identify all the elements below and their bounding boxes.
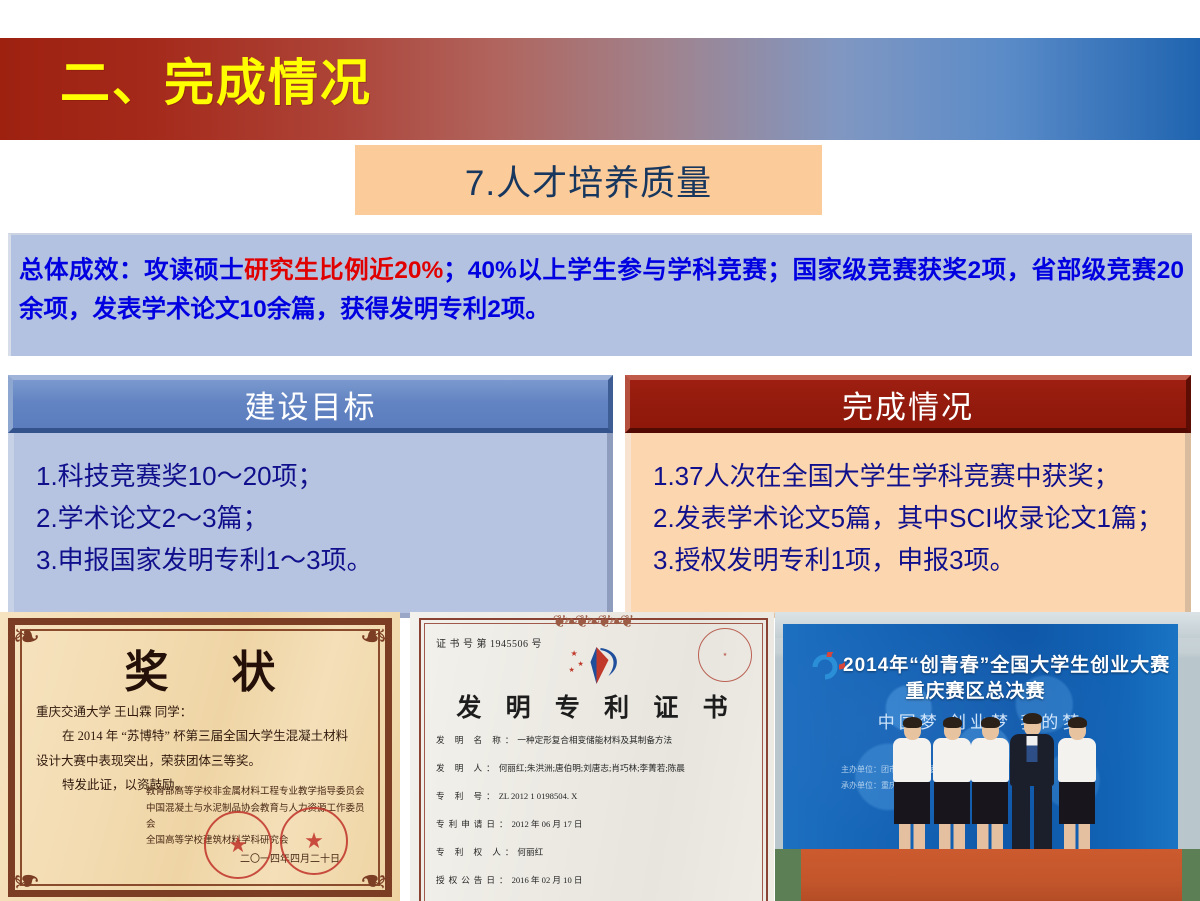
certificate-body: 重庆交通大学 王山霖 同学： 在 2014 年 “苏博特” 杯第三届全国大学生混… <box>36 700 370 798</box>
patent-certificate-photo: ❦❧❦❧❦❧❦ 证 书 号 第 1945506 号 ★ ★ ★ ★ 发 明 专 … <box>410 612 774 901</box>
slide: 二、完成情况 7.人才培养质量 总体成效：攻读硕士研究生比例近20%；40%以上… <box>0 0 1200 901</box>
list-item: 3.授权发明专利1项，申报3项。 <box>653 539 1185 581</box>
patent-field-label: 专 利 权 人： <box>436 847 517 857</box>
red-seal-icon <box>280 807 348 875</box>
person-head <box>1024 716 1041 736</box>
photo-strip: ❧ ❧ ❧ ❧ 奖 状 重庆交通大学 王山霖 同学： 在 2014 年 “苏博特… <box>0 612 1200 901</box>
summary-segment-1: 攻读硕士 <box>144 257 244 284</box>
patent-field-label: 专利申请日： <box>436 819 512 829</box>
svg-text:★: ★ <box>578 660 584 668</box>
person-head <box>982 720 999 740</box>
person-figure-suit <box>1010 716 1054 867</box>
patent-field-label: 专 利 号： <box>436 791 499 801</box>
person-skirt <box>972 782 1008 824</box>
result-panel: 完成情况 1.37人次在全国大学生学科竞赛中获奖； 2.发表学术论文5篇，其中S… <box>625 375 1191 618</box>
team-photo: 2014年“创青春”全国大学生创业大赛 重庆赛区总决赛 中国梦 创业梦 我的梦 … <box>775 612 1200 901</box>
subtitle-text: 7.人才培养质量 <box>465 155 712 206</box>
result-panel-header: 完成情况 <box>625 375 1191 433</box>
result-panel-body: 1.37人次在全国大学生学科竞赛中获奖； 2.发表学术论文5篇，其中SCI收录论… <box>625 433 1191 618</box>
result-panel-header-label: 完成情况 <box>842 382 974 427</box>
svg-text:★: ★ <box>569 666 575 674</box>
svg-text:★: ★ <box>571 649 578 658</box>
ground-track <box>775 849 1200 901</box>
person-figure <box>893 720 931 867</box>
patent-field-row: 发 明 名 称：一种定形复合相变储能材料及其制备方法 <box>436 734 756 746</box>
patent-red-seal-icon: ★ <box>698 628 752 682</box>
summary-highlight: 研究生比例近20% <box>244 257 443 284</box>
goal-panel: 建设目标 1.科技竞赛奖10～20项； 2.学术论文2～3篇； 3.申报国家发明… <box>8 375 613 618</box>
person-skirt <box>894 782 930 824</box>
patent-title: 发 明 专 利 证 书 <box>410 688 774 724</box>
page-title: 二、完成情况 <box>60 58 372 108</box>
ornament-corner-icon: ❧ <box>346 861 388 897</box>
patent-field-row: 发 明 人：何丽红;朱洪洲;唐伯明;刘唐志;肖巧林;李菁若;陈晨 <box>436 762 756 774</box>
patent-paper: ❦❧❦❧❦❧❦ 证 书 号 第 1945506 号 ★ ★ ★ ★ 发 明 专 … <box>410 612 774 901</box>
goal-panel-header-label: 建设目标 <box>245 382 377 427</box>
patent-field-value: 何丽红;朱洪洲;唐伯明;刘唐志;肖巧林;李菁若;陈晨 <box>499 763 685 773</box>
list-item: 2.发表学术论文5篇，其中SCI收录论文1篇； <box>653 497 1185 539</box>
patent-field-value: 一种定形复合相变储能材料及其制备方法 <box>517 735 672 745</box>
summary-text: 总体成效：攻读硕士研究生比例近20%；40%以上学生参与学科竞赛；国家级竞赛获奖… <box>19 252 1184 329</box>
summary-label: 总体成效： <box>19 257 144 284</box>
person-skirt <box>1059 782 1095 824</box>
person-shirt <box>1058 738 1096 782</box>
certificate-paper: ❧ ❧ ❧ ❧ 奖 状 重庆交通大学 王山霖 同学： 在 2014 年 “苏博特… <box>0 612 400 901</box>
patent-field-row: 授权公告日：2016 年 02 月 10 日 <box>436 874 756 886</box>
subtitle-box: 7.人才培养质量 <box>355 145 822 215</box>
award-certificate-photo: ❧ ❧ ❧ ❧ 奖 状 重庆交通大学 王山霖 同学： 在 2014 年 “苏博特… <box>0 612 400 901</box>
person-head <box>944 720 961 740</box>
patent-field-row: 专 利 权 人：何丽红 <box>436 846 756 858</box>
person-figure <box>933 720 971 867</box>
patent-field-value: 何丽红 <box>517 847 543 857</box>
person-shirt <box>933 738 971 782</box>
list-item: 3.申报国家发明专利1～3项。 <box>36 539 607 581</box>
patent-ornament-icon: ❦❧❦❧❦❧❦ <box>517 612 667 634</box>
patent-office-logo-icon: ★ ★ ★ <box>561 640 631 686</box>
person-figure <box>1058 720 1096 867</box>
certificate-issuer-1: 教育部高等学校非金属材料工程专业教学指导委员会 <box>146 784 370 800</box>
patent-field-value: 2012 年 06 月 17 日 <box>512 819 583 829</box>
patent-field-row: 专 利 号：ZL 2012 1 0198504. X <box>436 790 756 802</box>
list-item: 1.37人次在全国大学生学科竞赛中获奖； <box>653 455 1185 497</box>
list-item: 1.科技竞赛奖10～20项； <box>36 455 607 497</box>
patent-field-label: 授权公告日： <box>436 875 512 885</box>
patent-fields: 发 明 名 称：一种定形复合相变储能材料及其制备方法 发 明 人：何丽红;朱洪洲… <box>436 734 756 901</box>
person-skirt <box>934 782 970 824</box>
certificate-title: 奖 状 <box>0 636 400 700</box>
person-head <box>1069 720 1086 740</box>
patent-field-row: 专利申请日：2012 年 06 月 17 日 <box>436 818 756 830</box>
person-shirt <box>893 738 931 782</box>
person-shirt <box>971 738 1009 782</box>
person-head <box>904 720 921 740</box>
list-item: 2.学术论文2～3篇； <box>36 497 607 539</box>
ornament-corner-icon: ❧ <box>12 861 54 897</box>
summary-box: 总体成效：攻读硕士研究生比例近20%；40%以上学生参与学科竞赛；国家级竞赛获奖… <box>8 233 1192 356</box>
team-photo-scene: 2014年“创青春”全国大学生创业大赛 重庆赛区总决赛 中国梦 创业梦 我的梦 … <box>775 612 1200 901</box>
banner-line-1: 2014年“创青春”全国大学生创业大赛 <box>843 650 1168 677</box>
patent-certificate-number: 证 书 号 第 1945506 号 <box>436 635 542 650</box>
red-seal-icon <box>204 811 272 879</box>
person-figure <box>971 720 1009 867</box>
patent-field-value: ZL 2012 1 0198504. X <box>499 791 578 801</box>
banner-line-2: 重庆赛区总决赛 <box>783 676 1168 703</box>
certificate-line-1: 重庆交通大学 王山霖 同学： <box>36 700 370 724</box>
patent-field-label: 发 明 名 称： <box>436 735 517 745</box>
certificate-line-3: 设计大赛中表现突出，荣获团体三等奖。 <box>36 749 370 773</box>
goal-panel-header: 建设目标 <box>8 375 613 433</box>
certificate-line-2: 在 2014 年 “苏博特” 杯第三届全国大学生混凝土材料 <box>36 724 370 748</box>
patent-field-label: 发 明 人： <box>436 763 499 773</box>
patent-field-value: 2016 年 02 月 10 日 <box>512 875 583 885</box>
goal-panel-body: 1.科技竞赛奖10～20项； 2.学术论文2～3篇； 3.申报国家发明专利1～3… <box>8 433 613 618</box>
person-suit-jacket <box>1010 734 1054 786</box>
